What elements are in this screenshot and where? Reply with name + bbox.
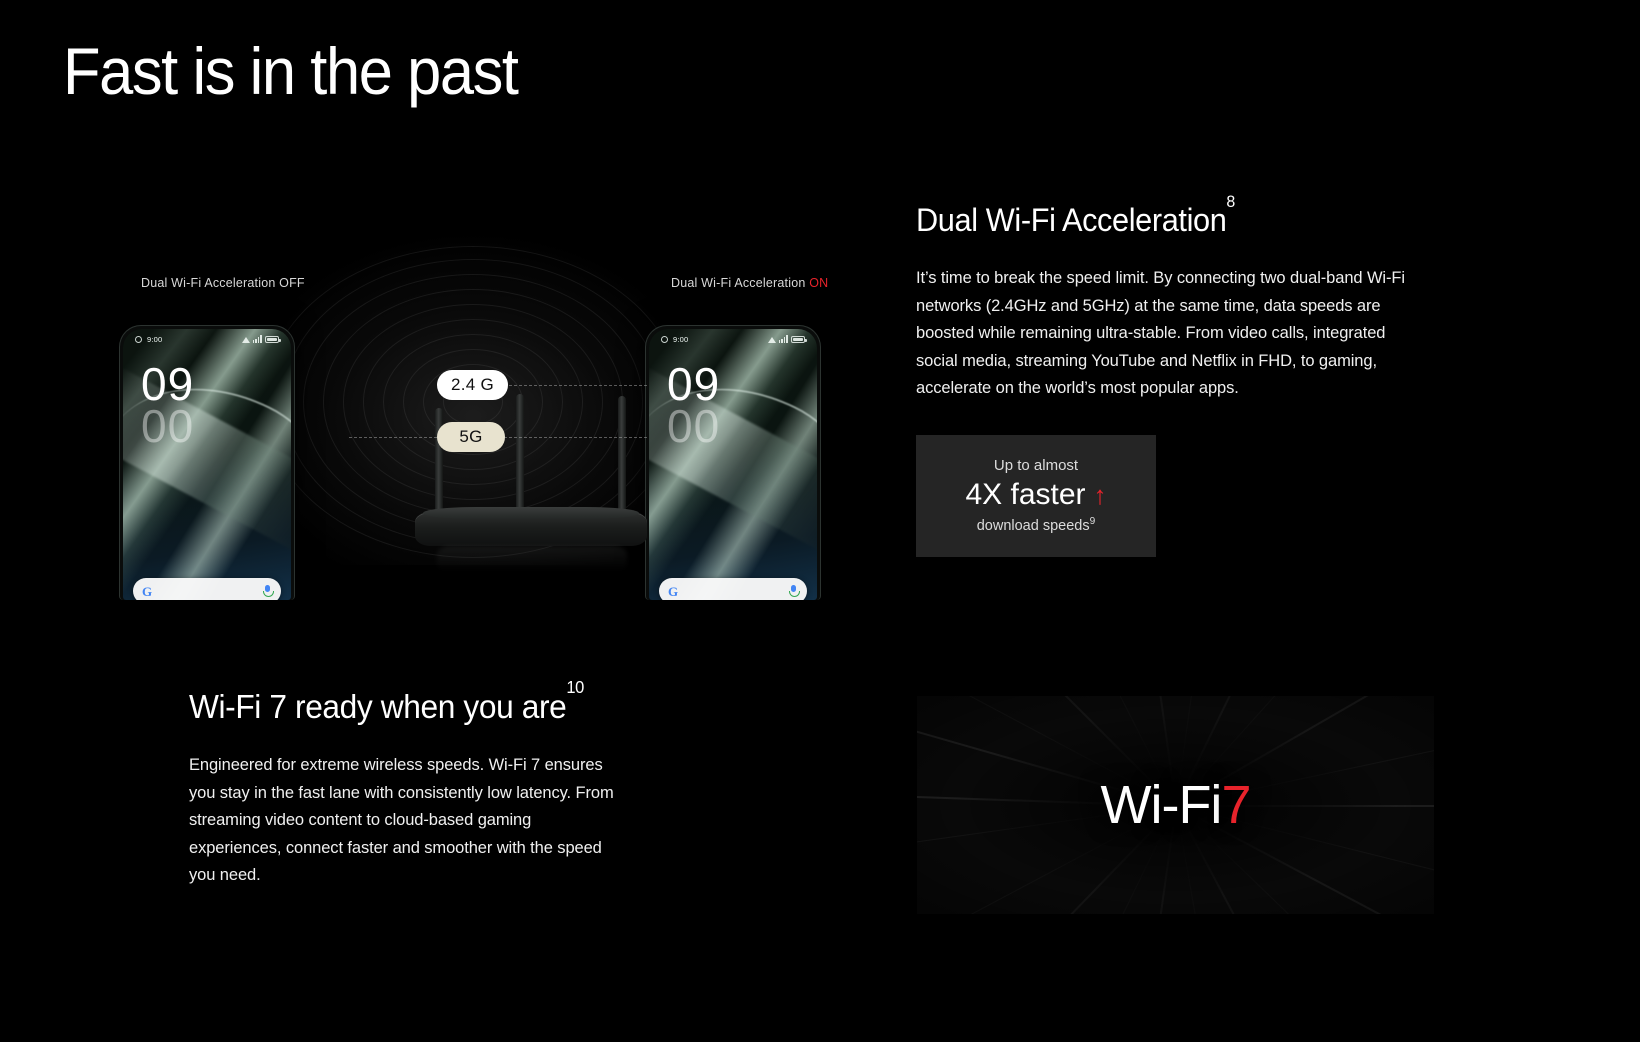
statusbar-left: 9:00 — [135, 335, 162, 344]
wifi7-body: Engineered for extreme wireless speeds. … — [189, 752, 619, 890]
label-acceleration-off: Dual Wi-Fi Acceleration OFF — [141, 276, 305, 290]
wifi7-visual: Wi-Fi7 — [917, 696, 1434, 914]
router-reflection — [437, 546, 627, 572]
google-logo: G — [668, 585, 678, 598]
arrow-up-icon: ↑ — [1094, 482, 1107, 508]
label-acceleration-on-state: ON — [809, 276, 828, 290]
statusbar-time: 9:00 — [673, 335, 688, 344]
stat-card-bottom-text: download speeds — [977, 518, 1090, 534]
connector-line-24g — [509, 385, 647, 386]
footnote-marker: 10 — [566, 677, 584, 697]
clock-minutes: 00 — [141, 405, 194, 447]
clock-hours: 09 — [667, 363, 720, 405]
wifi7-heading-text: Wi-Fi 7 ready when you are — [189, 688, 566, 725]
phone-right: 9:00 09 00 G — [645, 325, 821, 600]
wifi-icon — [242, 336, 250, 343]
phone-left-clock: 09 00 — [141, 363, 194, 448]
statusbar-right — [242, 335, 279, 343]
wifi7-visual-prefix: Wi-Fi — [1101, 775, 1222, 835]
google-search-bar[interactable]: G — [659, 578, 807, 600]
router-antenna — [618, 396, 626, 520]
dual-wifi-section: Dual Wi-Fi Acceleration8 It’s time to br… — [916, 202, 1416, 557]
label-acceleration-on: Dual Wi-Fi Acceleration ON — [671, 276, 828, 290]
wifi7-visual-accent: 7 — [1221, 775, 1250, 835]
phone-left: 9:00 09 00 G — [119, 325, 295, 600]
phone-right-statusbar: 9:00 — [649, 329, 817, 349]
phone-left-statusbar: 9:00 — [123, 329, 291, 349]
dual-wifi-hero-image: Dual Wi-Fi Acceleration OFF Dual Wi-Fi A… — [63, 200, 883, 600]
statusbar-right — [768, 335, 805, 343]
stat-card-value: 4X faster — [965, 478, 1085, 512]
stat-card-top-label: Up to almost — [994, 457, 1078, 474]
battery-icon — [791, 336, 805, 344]
clock-hours: 09 — [141, 363, 194, 405]
clock-minutes: 00 — [667, 405, 720, 447]
wifi7-heading: Wi-Fi 7 ready when you are10 — [189, 688, 640, 726]
stat-card-value-row: 4X faster ↑ — [965, 478, 1106, 512]
phone-right-clock: 09 00 — [667, 363, 720, 448]
page-title: Fast is in the past — [63, 38, 518, 104]
statusbar-left: 9:00 — [661, 335, 688, 344]
marketing-page: Fast is in the past Dual Wi-Fi Accelerat… — [0, 0, 1640, 1042]
router-body — [415, 512, 647, 546]
label-acceleration-on-prefix: Dual Wi-Fi Acceleration — [671, 276, 809, 290]
router-antenna — [516, 394, 524, 520]
statusbar-time: 9:00 — [147, 335, 162, 344]
wifi7-visual-text: Wi-Fi7 — [917, 774, 1434, 836]
wifi7-section: Wi-Fi 7 ready when you are10 Engineered … — [189, 688, 659, 890]
stat-card-download-speed: Up to almost 4X faster ↑ download speeds… — [916, 435, 1156, 557]
microphone-icon[interactable] — [789, 585, 798, 598]
google-search-bar[interactable]: G — [133, 578, 281, 600]
camera-dot-icon — [661, 336, 668, 343]
band-badge-24g: 2.4 G — [437, 370, 508, 400]
phone-left-screen: 9:00 09 00 G — [123, 329, 291, 600]
camera-dot-icon — [135, 336, 142, 343]
signal-icon — [253, 335, 262, 343]
band-badge-5g: 5G — [437, 422, 505, 452]
footnote-marker: 8 — [1226, 192, 1235, 211]
router-device — [415, 438, 647, 568]
signal-icon — [779, 335, 788, 343]
dual-wifi-heading: Dual Wi-Fi Acceleration8 — [916, 202, 1396, 239]
dual-wifi-body: It’s time to break the speed limit. By c… — [916, 265, 1416, 403]
stat-card-bottom-label: download speeds9 — [977, 516, 1096, 534]
google-logo: G — [142, 585, 152, 598]
battery-icon — [265, 336, 279, 344]
phone-right-screen: 9:00 09 00 G — [649, 329, 817, 600]
footnote-marker: 9 — [1090, 516, 1096, 527]
wifi-icon — [768, 336, 776, 343]
dual-wifi-heading-text: Dual Wi-Fi Acceleration — [916, 202, 1226, 238]
microphone-icon[interactable] — [263, 585, 272, 598]
